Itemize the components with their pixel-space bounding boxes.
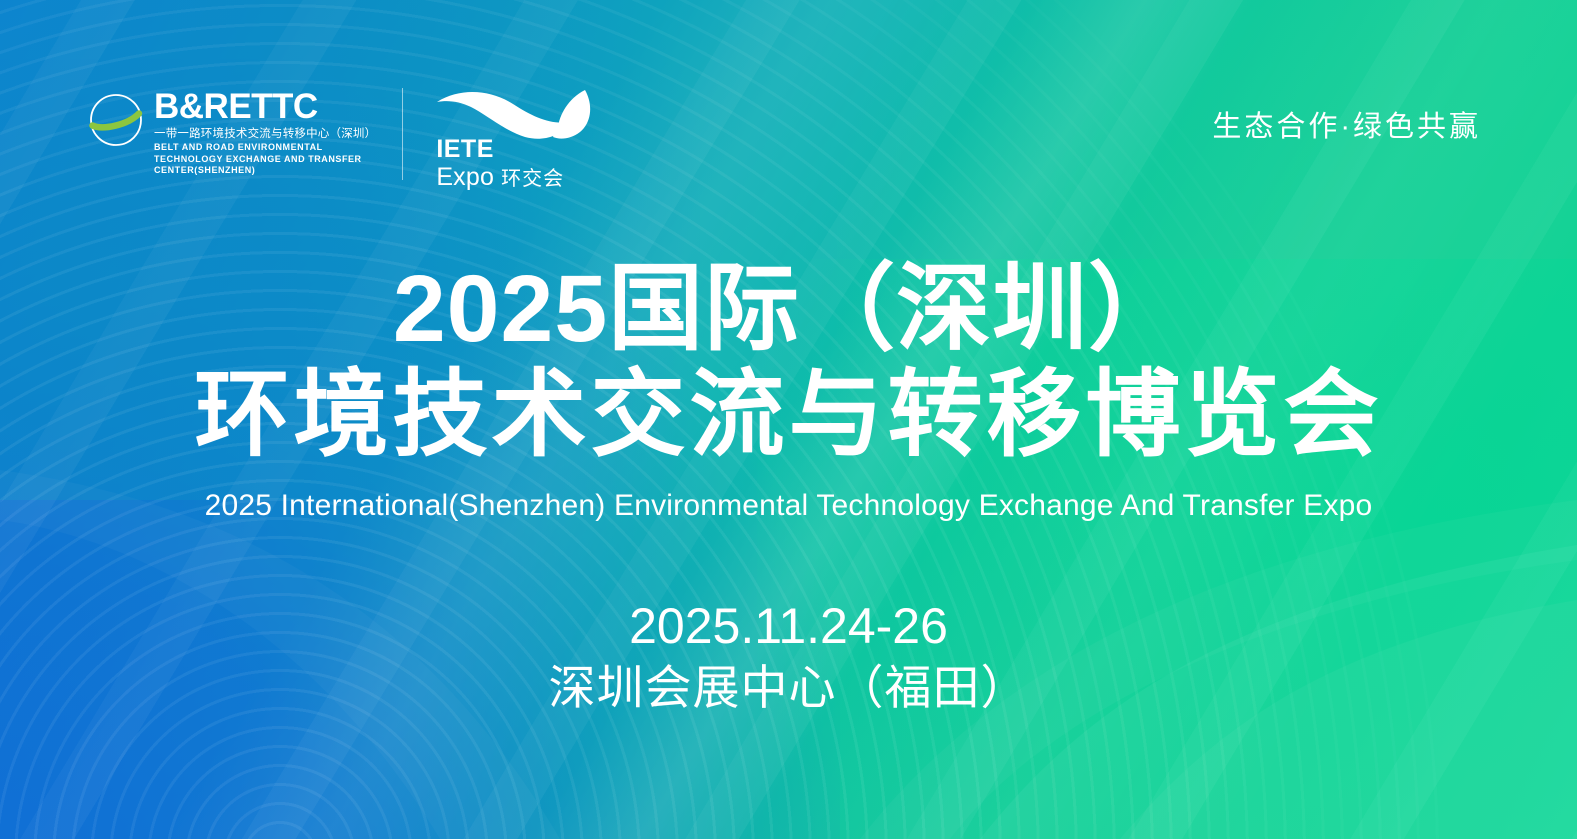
brettc-name-en-line1: BELT AND ROAD ENVIRONMENTAL: [154, 142, 376, 154]
page-title-line-1: 2025国际（深圳）: [0, 255, 1577, 363]
iete-abbrev: IETE: [436, 136, 564, 163]
page-title-line-2: 环境技术交流与转移博览会: [0, 359, 1577, 471]
event-venue: 深圳会展中心（福田）: [0, 659, 1577, 717]
iete-expo-word: Expo: [436, 163, 494, 192]
brettc-logo: B&RETTC 一带一路环境技术交流与转移中心（深圳） BELT AND ROA…: [88, 88, 403, 180]
brettc-text-block: B&RETTC 一带一路环境技术交流与转移中心（深圳） BELT AND ROA…: [154, 88, 376, 177]
banner-main: 2025国际（深圳） 环境技术交流与转移博览会 2025 Internation…: [0, 255, 1577, 717]
brettc-wordmark: B&RETTC: [154, 88, 376, 126]
page-subtitle-english: 2025 International(Shenzhen) Environment…: [0, 487, 1577, 525]
iete-text-block: IETE Expo 环交会: [436, 136, 564, 194]
event-date: 2025.11.24-26: [0, 597, 1577, 655]
brettc-name-en-line2: TECHNOLOGY EXCHANGE AND TRANSFER: [154, 154, 376, 166]
banner-header: B&RETTC 一带一路环境技术交流与转移中心（深圳） BELT AND ROA…: [0, 0, 1577, 210]
header-slogan: 生态合作·绿色共赢: [1212, 103, 1481, 145]
iete-expo-logo: IETE Expo 环交会: [433, 88, 603, 192]
brettc-name-cn: 一带一路环境技术交流与转移中心（深圳）: [154, 127, 376, 142]
logo-group: B&RETTC 一带一路环境技术交流与转移中心（深圳） BELT AND ROA…: [88, 88, 603, 192]
iete-subline: Expo 环交会: [436, 163, 564, 194]
brettc-name-en-line3: CENTER(SHENZHEN): [154, 165, 376, 177]
iete-expo-cn: 环交会: [501, 165, 564, 194]
event-banner: B&RETTC 一带一路环境技术交流与转移中心（深圳） BELT AND ROA…: [0, 0, 1577, 839]
globe-icon: [88, 92, 144, 148]
